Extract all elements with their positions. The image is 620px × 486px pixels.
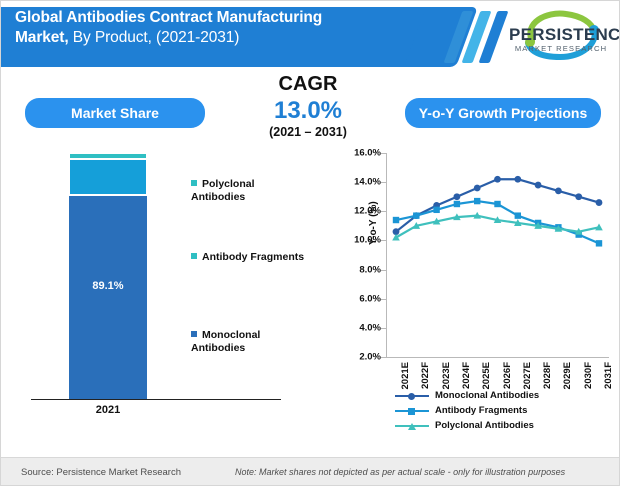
x-axis-tick-label: 2024F [461, 362, 472, 389]
legend-marker-triangle-icon [408, 423, 416, 430]
y-axis-tick-label: 16.0% [354, 148, 381, 159]
y-axis-tick-label: 8.0% [359, 264, 381, 275]
legend-marker-antibody-fragments-icon [191, 253, 197, 259]
y-axis-tick-mark [381, 240, 386, 241]
legend-marker-monoclonal-icon [191, 331, 197, 337]
legend-row: Monoclonal Antibodies [395, 388, 615, 403]
legend-swatch [395, 391, 429, 401]
data-point-marker [494, 201, 500, 207]
y-axis-tick-mark [381, 328, 386, 329]
data-point-marker [535, 182, 542, 189]
footer-note: Note: Market shares not depicted as per … [235, 467, 565, 477]
data-point-marker [474, 198, 480, 204]
bar-legend-label-polyclonal: Polyclonal Antibodies [191, 178, 255, 203]
legend-marker-circle-icon [408, 393, 415, 400]
legend-label: Antibody Fragments [435, 405, 527, 416]
y-axis-tick-mark [381, 299, 386, 300]
yoy-growth-pill: Y-o-Y Growth Projections [405, 98, 601, 128]
x-axis-tick-label: 2026F [502, 362, 513, 389]
y-axis-tick-label: 14.0% [354, 177, 381, 188]
bar-legend-label-monoclonal: Monoclonal Antibodies [191, 329, 260, 354]
legend-swatch [395, 421, 429, 431]
y-axis-tick-mark [381, 211, 386, 212]
legend-label: Polyclonal Antibodies [435, 420, 534, 431]
market-share-pill: Market Share [25, 98, 205, 128]
header: Global Antibodies Contract Manufacturing… [1, 1, 620, 73]
title-line-1: Global Antibodies Contract Manufacturing [15, 9, 322, 26]
data-point-marker [494, 176, 501, 183]
data-point-marker [454, 193, 461, 200]
y-axis-tick-label: 10.0% [354, 235, 381, 246]
bar-segment-monoclonal [69, 196, 147, 399]
cagr-range: (2021 – 2031) [233, 125, 383, 139]
infographic-canvas: Global Antibodies Contract Manufacturing… [0, 0, 620, 486]
logo-tagline: MARKET RESEARCH [509, 44, 613, 53]
line-plot-area: Y-o-Y (%) 2.0%4.0%6.0%8.0%10.0%12.0%14.0… [386, 153, 609, 357]
legend-row: Antibody Fragments [395, 403, 615, 418]
data-point-marker [555, 187, 562, 194]
bar-baseline [31, 399, 281, 400]
bar-legend-antibody-fragments: Antibody Fragments [191, 251, 331, 264]
x-axis-tick-label: 2031F [603, 362, 614, 389]
data-point-marker [515, 212, 521, 218]
y-axis-tick-mark [381, 357, 386, 358]
bar-legend-polyclonal: Polyclonal Antibodies [191, 178, 311, 205]
y-axis-tick-label: 2.0% [359, 352, 381, 363]
yoy-growth-chart: Y-o-Y (%) 2.0%4.0%6.0%8.0%10.0%12.0%14.0… [337, 141, 620, 451]
x-axis-tick-label: 2022F [420, 362, 431, 389]
legend-label: Monoclonal Antibodies [435, 390, 539, 401]
title-line-2-rest: By Product, (2021-2031) [69, 29, 240, 46]
x-axis-tick-label: 2030F [583, 362, 594, 389]
x-axis-tick-label: 2028F [542, 362, 553, 389]
footer: Source: Persistence Market Research Note… [1, 457, 620, 486]
data-point-marker [433, 207, 439, 213]
cagr-value: 13.0% [233, 97, 383, 125]
y-axis-tick-label: 6.0% [359, 293, 381, 304]
line-series-svg [386, 153, 609, 357]
line-chart-legend: Monoclonal AntibodiesAntibody FragmentsP… [395, 388, 615, 433]
logo-wordmark: PERSISTENCE [509, 25, 613, 45]
data-point-marker [514, 176, 521, 183]
data-point-marker [596, 240, 602, 246]
data-point-marker [393, 217, 399, 223]
x-axis-tick-label: 2029E [562, 362, 573, 389]
data-point-marker [413, 212, 419, 218]
legend-marker-polyclonal-icon [191, 180, 197, 186]
data-point-marker [454, 201, 460, 207]
x-axis-tick-label: 2021E [400, 362, 411, 389]
bar-data-label: 89.1% [69, 280, 147, 292]
legend-marker-square-icon [408, 408, 415, 415]
legend-swatch [395, 406, 429, 416]
y-axis-tick-label: 12.0% [354, 206, 381, 217]
data-point-marker [596, 199, 603, 206]
x-axis-tick-label: 2027E [522, 362, 533, 389]
page-title: Global Antibodies Contract Manufacturing… [15, 8, 427, 48]
title-line-2-bold: Market, [15, 29, 69, 46]
logo: PERSISTENCE MARKET RESEARCH [506, 7, 614, 65]
y-axis-tick-mark [381, 153, 386, 154]
x-axis-tick-label: 2025E [481, 362, 492, 389]
y-axis-tick-label: 4.0% [359, 322, 381, 333]
x-axis-tick-label: 2023E [441, 362, 452, 389]
y-axis-tick-mark [381, 182, 386, 183]
bar-legend-monoclonal: Monoclonal Antibodies [191, 329, 311, 356]
bar-segment-antibody-fragments [69, 159, 147, 195]
market-share-chart: 89.1% 2021 Polyclonal Antibodies Antibod… [1, 141, 341, 411]
y-axis-tick-mark [381, 270, 386, 271]
cagr-label: CAGR [233, 73, 383, 96]
legend-row: Polyclonal Antibodies [395, 418, 615, 433]
bar-legend-label-antibody-fragments: Antibody Fragments [202, 251, 304, 263]
footer-source: Source: Persistence Market Research [21, 467, 181, 478]
x-axis-line [386, 357, 609, 358]
data-point-marker [474, 185, 481, 192]
data-point-marker [575, 193, 582, 200]
bar-x-label: 2021 [69, 404, 147, 416]
